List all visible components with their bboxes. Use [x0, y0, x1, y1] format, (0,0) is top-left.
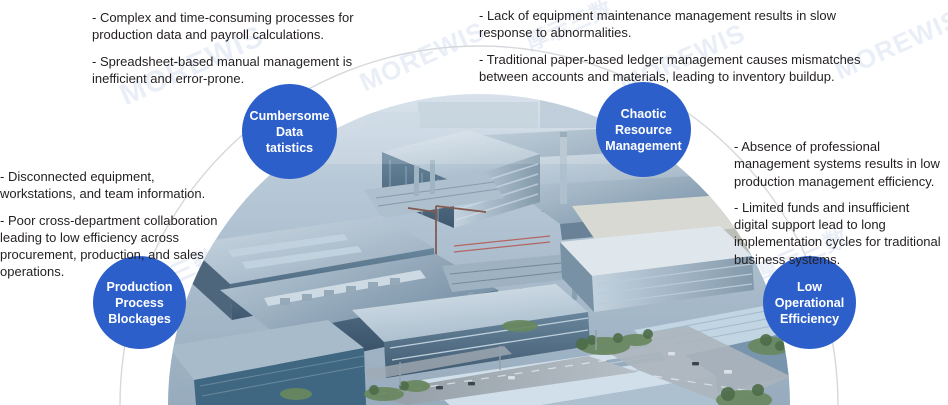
node-label: Production Process Blockages: [107, 279, 173, 327]
callout-cumbersome-data-statistics: - Complex and time-consuming processes f…: [92, 9, 397, 87]
node-label-line: Process: [107, 295, 173, 311]
node-label: Low Operational Efficiency: [775, 279, 844, 327]
infographic-canvas: MOREWIS MOREWIS MOREWIS MOREWIS 厚示三数 厚示三…: [0, 0, 948, 405]
callout-bullet: - Complex and time-consuming processes f…: [92, 9, 397, 44]
node-label-line: Resource: [605, 122, 681, 138]
callout-bullet: - Disconnected equipment, workstations, …: [0, 168, 228, 203]
callout-bullet: - Limited funds and insufficient digital…: [734, 199, 946, 268]
node-label: Chaotic Resource Management: [605, 106, 681, 154]
node-label-line: Management: [605, 138, 681, 154]
node-label-line: Cumbersome: [250, 108, 330, 124]
callout-chaotic-resource-management: - Lack of equipment maintenance manageme…: [479, 7, 879, 85]
callout-bullet: - Traditional paper-based ledger managem…: [479, 51, 879, 86]
node-chaotic-resource-management[interactable]: Chaotic Resource Management: [596, 82, 691, 177]
node-label-line: Low: [775, 279, 844, 295]
callout-production-process-blockages: - Disconnected equipment, workstations, …: [0, 168, 228, 281]
callout-low-operational-efficiency: - Absence of professional management sys…: [734, 138, 946, 268]
node-label-line: Blockages: [107, 311, 173, 327]
node-label-line: Data: [250, 124, 330, 140]
node-label-line: Efficiency: [775, 311, 844, 327]
node-cumbersome-data-statistics[interactable]: Cumbersome Data tatistics: [242, 84, 337, 179]
callout-bullet: - Poor cross-department collaboration le…: [0, 212, 228, 281]
callout-bullet: - Spreadsheet-based manual management is…: [92, 53, 397, 88]
node-label-line: Operational: [775, 295, 844, 311]
node-label-line: Chaotic: [605, 106, 681, 122]
callout-bullet: - Absence of professional management sys…: [734, 138, 946, 190]
node-label-line: Production: [107, 279, 173, 295]
node-label-line: tatistics: [250, 140, 330, 156]
node-low-operational-efficiency[interactable]: Low Operational Efficiency: [763, 256, 856, 349]
callout-bullet: - Lack of equipment maintenance manageme…: [479, 7, 879, 42]
node-label: Cumbersome Data tatistics: [250, 108, 330, 156]
